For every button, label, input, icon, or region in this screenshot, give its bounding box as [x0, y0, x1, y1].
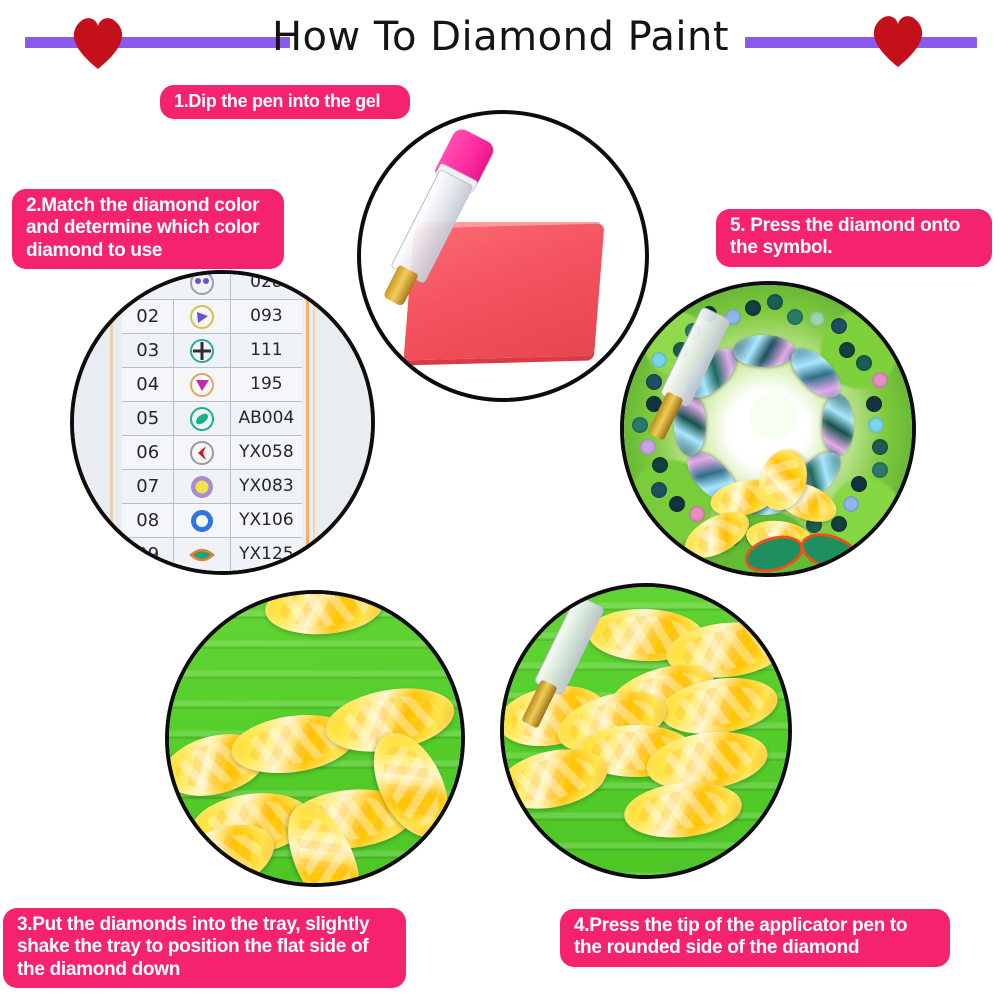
- chart-row-code: 195: [231, 368, 302, 401]
- step-1-photo: [357, 110, 649, 402]
- canvas-gem: [809, 311, 825, 327]
- step-4-label: 4.Press the tip of the applicator pen to…: [560, 909, 950, 967]
- canvas-gem: [831, 516, 847, 532]
- table-row: 06YX058: [122, 436, 302, 470]
- canvas-gem: [822, 394, 854, 456]
- slash-oval-icon: [174, 402, 230, 435]
- step-5-label: 5. Press the diamond onto the symbol.: [716, 209, 992, 267]
- tray-scene: [504, 587, 788, 875]
- step-2-label: 2.Match the diamond color and determine …: [12, 189, 284, 269]
- step-3-photo: [165, 590, 465, 887]
- canvas-gem: [872, 462, 888, 478]
- tray-scene: [169, 594, 461, 883]
- canvas-gem: [733, 335, 795, 367]
- filled-dot-icon: [174, 470, 230, 503]
- step-2-photo: 02802093031110419505AB00406YX05807YX0830…: [70, 270, 375, 575]
- canvas-gem: [872, 439, 888, 455]
- chart-row-number: 07: [122, 470, 174, 503]
- table-row: 028: [122, 270, 302, 300]
- canvas-gem: [868, 417, 884, 433]
- table-row: 05AB004: [122, 402, 302, 436]
- triangle-icon: [174, 300, 230, 333]
- step-4-photo: [500, 583, 792, 879]
- canvas-gem: [651, 482, 667, 498]
- leaf-icon: [174, 538, 230, 571]
- step-5-photo: [620, 281, 916, 577]
- page-title: How To Diamond Paint: [0, 14, 1001, 60]
- canvas-gem: [689, 506, 705, 522]
- chart-row-number: 08: [122, 504, 174, 537]
- canvas-gem: [839, 342, 855, 358]
- chart-row-number: 09: [122, 538, 174, 571]
- canvas-gem: [872, 372, 888, 388]
- chart-row-code: YX125: [231, 538, 302, 571]
- canvas-gem: [745, 300, 761, 316]
- chart-edge-stripe: [110, 274, 113, 571]
- chart-row-number: 04: [122, 368, 174, 401]
- canvas-scene: [624, 285, 912, 573]
- double-dot-icon: [174, 270, 230, 299]
- triangle-down-icon: [174, 368, 230, 401]
- step-3-label: 3.Put the diamonds into the tray, slight…: [3, 908, 406, 988]
- gel-scene: [361, 114, 645, 398]
- canvas-gem: [831, 318, 847, 334]
- table-row: 03111: [122, 334, 302, 368]
- color-chart-scene: 02802093031110419505AB00406YX05807YX0830…: [74, 274, 371, 571]
- table-row: 08YX106: [122, 504, 302, 538]
- chart-row-number: 03: [122, 334, 174, 367]
- canvas-gem: [787, 309, 803, 325]
- chart-row-number: 06: [122, 436, 174, 469]
- table-row: 04195: [122, 368, 302, 402]
- table-row: 09YX125: [122, 538, 302, 572]
- chart-edge-stripe: [313, 274, 315, 571]
- chart-row-number: 05: [122, 402, 174, 435]
- chevron-left-icon: [174, 436, 230, 469]
- table-row: 07YX083: [122, 470, 302, 504]
- canvas-gem: [652, 457, 668, 473]
- canvas-gem: [767, 294, 783, 310]
- chart-row-code: 028: [231, 270, 302, 299]
- color-chart-table: 02802093031110419505AB00406YX05807YX0830…: [122, 270, 302, 572]
- chart-row-code: YX058: [231, 436, 302, 469]
- canvas-gem: [651, 352, 667, 368]
- pen-tip: [383, 265, 419, 307]
- plus-icon: [174, 334, 230, 367]
- chart-row-code: 093: [231, 300, 302, 333]
- table-row: 02093: [122, 300, 302, 334]
- infographic-canvas: How To Diamond Paint 1.Dip the pen into …: [0, 0, 1001, 1001]
- ring-icon: [174, 504, 230, 537]
- chart-row-code: 111: [231, 334, 302, 367]
- chart-edge-stripe: [306, 274, 309, 571]
- chart-row-number: 02: [122, 300, 174, 333]
- chart-row-code: AB004: [231, 402, 302, 435]
- chart-row-code: YX083: [231, 470, 302, 503]
- chart-row-code: YX106: [231, 504, 302, 537]
